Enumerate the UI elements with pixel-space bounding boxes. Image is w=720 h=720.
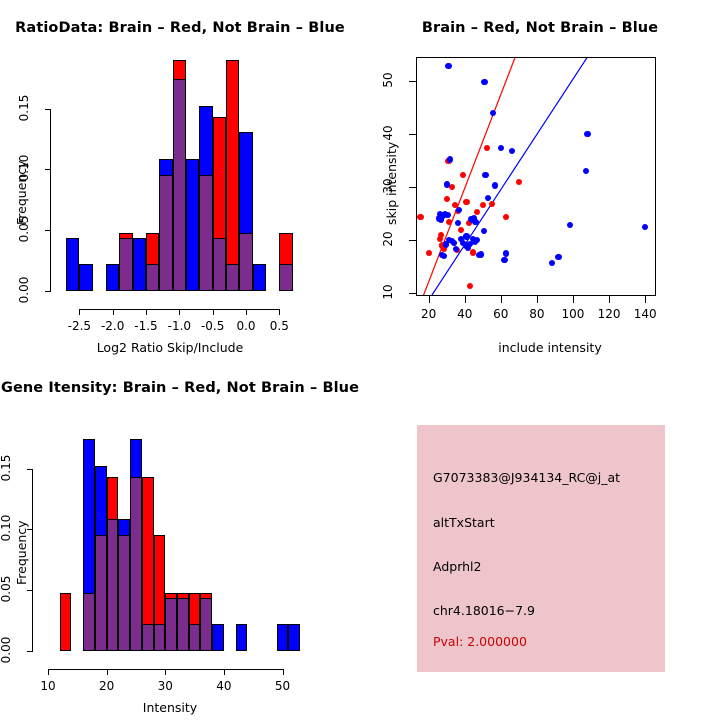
scatter-point [482, 172, 488, 178]
histogram-bar-blue [212, 624, 224, 651]
y-axis-tick-label: 0.15 [0, 448, 13, 488]
x-axis-tick [283, 669, 284, 675]
histogram-bar-red [60, 593, 72, 651]
scatter-point [485, 195, 491, 201]
histogram-bar-overlap [130, 477, 142, 651]
y-axis-tick-label: 0.00 [17, 270, 31, 310]
x-axis-tick [113, 309, 114, 315]
scatter-point [481, 79, 487, 85]
scatter-point [490, 110, 496, 116]
x-axis-tick [537, 296, 538, 303]
x-axis-tick-label: 10 [26, 679, 70, 693]
histogram-bar-overlap [142, 624, 154, 651]
y-axis-tick [27, 469, 33, 470]
info-line-locus: chr4.18016−7.9 [433, 603, 535, 618]
scatter-point [583, 168, 589, 174]
x-axis-tick [165, 669, 166, 675]
scatter-point [555, 254, 561, 260]
histogram-bar-blue [288, 624, 300, 651]
x-axis-tick [246, 309, 247, 315]
x-axis-tick [465, 296, 466, 303]
scatter-plot-area: 102030405020406080100120140 [360, 0, 720, 360]
scatter-panel: Brain – Red, Not Brain – Blue skip inten… [360, 0, 720, 360]
y-axis-tick [45, 230, 51, 231]
scatter-point [489, 201, 495, 207]
histogram-bar-overlap [189, 624, 201, 651]
y-axis-tick [409, 293, 416, 294]
info-line-pval: Pval: 2.000000 [433, 634, 527, 649]
info-line-probe-id: G7073383@J934134_RC@j_at [433, 470, 620, 485]
scatter-point [444, 181, 450, 187]
histogram-bar-overlap [95, 535, 107, 651]
histogram-bar-blue [66, 238, 79, 291]
gene-histogram-panel: Gene Itensity: Brain – Red, Not Brain – … [0, 360, 360, 720]
y-axis-line [32, 469, 33, 651]
x-axis-tick [501, 296, 502, 303]
scatter-point [584, 131, 590, 137]
x-axis-tick [213, 309, 214, 315]
x-axis-tick-label: 20 [85, 679, 129, 693]
histogram-bar-blue [133, 238, 146, 291]
y-axis-tick-label: 10 [381, 272, 395, 312]
y-axis-tick [27, 529, 33, 530]
histogram-bar-overlap [159, 175, 172, 291]
plot-canvas: RatioData: Brain – Red, Not Brain – Blue… [0, 0, 720, 720]
scatter-point [472, 219, 478, 225]
y-axis-line [50, 109, 51, 291]
x-axis-tick [179, 309, 180, 315]
x-axis-tick [609, 296, 610, 303]
x-axis-tick [429, 296, 430, 303]
histogram-bar-blue [236, 624, 248, 651]
info-line-event-type: altTxStart [433, 515, 495, 530]
scatter-point [481, 228, 487, 234]
y-axis-tick [45, 169, 51, 170]
scatter-point [426, 250, 432, 256]
histogram-bar-overlap [107, 519, 119, 651]
histogram-bar-overlap [83, 593, 95, 651]
histogram-bar-overlap [165, 598, 177, 651]
y-axis-tick [45, 291, 51, 292]
info-line-gene-symbol: Adprhl2 [433, 559, 481, 574]
y-axis-tick-label: 30 [381, 166, 395, 206]
scatter-point [445, 63, 451, 69]
y-axis-tick-label: 0.05 [17, 209, 31, 249]
y-axis-tick [409, 187, 416, 188]
histogram-bar-blue [106, 264, 119, 291]
histogram-bar-blue [277, 624, 289, 651]
histogram-bar-overlap [154, 624, 166, 651]
x-axis-tick [79, 309, 80, 315]
histogram-bar-blue [253, 264, 266, 291]
scatter-point [501, 257, 507, 263]
scatter-point [447, 156, 453, 162]
histogram-bar-blue [79, 264, 92, 291]
histogram-bar-overlap [213, 238, 226, 291]
info-panel: G7073383@J934134_RC@j_at altTxStart Adpr… [360, 360, 720, 720]
gene-histogram-xlabel: Intensity [40, 700, 300, 715]
x-axis-tick-label: 30 [143, 679, 187, 693]
histogram-bar-overlap [118, 535, 130, 651]
x-axis-tick-label: 50 [261, 679, 305, 693]
scatter-point [470, 249, 476, 255]
histogram-bar-overlap [146, 264, 159, 291]
scatter-point [460, 172, 466, 178]
y-axis-tick [409, 240, 416, 241]
scatter-point [444, 212, 450, 218]
scatter-fit-lines [417, 58, 655, 295]
histogram-bar-overlap [200, 598, 212, 651]
x-axis-tick [48, 669, 49, 675]
x-axis-tick [573, 296, 574, 303]
y-axis-tick-label: 0.10 [0, 508, 13, 548]
scatter-point [463, 233, 469, 239]
scatter-point [509, 148, 515, 154]
histogram-bar-red [226, 60, 239, 291]
histogram-bar-overlap [119, 238, 132, 291]
y-axis-tick-label: 40 [381, 113, 395, 153]
x-axis-tick [645, 296, 646, 303]
histogram-bar-overlap [173, 79, 186, 291]
histogram-bar-overlap [226, 264, 239, 291]
scatter-data-region [417, 58, 655, 295]
scatter-point [463, 199, 469, 205]
y-axis-tick [27, 651, 33, 652]
histogram-bar-blue [186, 159, 199, 291]
histogram-bar-overlap [177, 598, 189, 651]
y-axis-tick-label: 50 [381, 60, 395, 100]
gene-histogram-title: Gene Itensity: Brain – Red, Not Brain – … [0, 380, 360, 396]
y-axis-tick-label: 0.15 [17, 88, 31, 128]
y-axis-tick-label: 0.05 [0, 569, 13, 609]
histogram-bar-overlap [239, 233, 252, 291]
histogram-bar-overlap [279, 264, 292, 291]
scatter-point [516, 179, 522, 185]
y-axis-tick [409, 134, 416, 135]
x-axis-tick-label: 140 [623, 307, 667, 321]
y-axis-tick [45, 109, 51, 110]
scatter-point [458, 227, 464, 233]
fit-line-not-brain-fit [431, 58, 587, 295]
x-axis-tick [146, 309, 147, 315]
x-axis-tick [224, 669, 225, 675]
y-axis-tick [27, 590, 33, 591]
scatter-point [453, 246, 459, 252]
x-axis-tick [279, 309, 280, 315]
scatter-point [503, 250, 509, 256]
scatter-point [444, 196, 450, 202]
x-axis-tick [107, 669, 108, 675]
scatter-point [478, 251, 484, 257]
x-axis-tick-label: 40 [202, 679, 246, 693]
y-axis-tick-label: 0.00 [0, 630, 13, 670]
y-axis-tick [409, 81, 416, 82]
x-axis-tick-label: 0.5 [257, 319, 301, 333]
y-axis-tick-label: 0.10 [17, 148, 31, 188]
histogram-bar-overlap [199, 175, 212, 291]
y-axis-tick-label: 20 [381, 219, 395, 259]
